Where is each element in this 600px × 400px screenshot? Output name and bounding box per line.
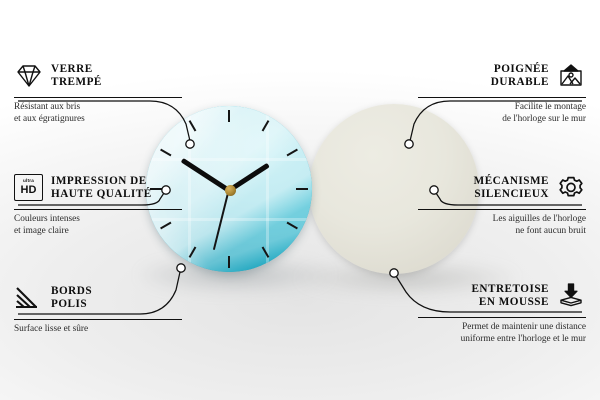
clock-tick bbox=[296, 188, 308, 190]
feature-title-line1: IMPRESSION DE bbox=[51, 175, 147, 187]
feature-description: Résistant aux bris et aux égratignures bbox=[14, 102, 182, 125]
feature-divider bbox=[14, 209, 182, 210]
feature-entretoise-en-mousse: ENTRETOISE EN MOUSSE Permet de maintenir… bbox=[418, 276, 586, 346]
feature-title: POIGNÉE DURABLE bbox=[491, 63, 549, 90]
feature-header: MÉCANISME SILENCIEUX bbox=[418, 168, 586, 208]
infographic-canvas: VERRE TREMPÉ Résistant aux bris et aux é… bbox=[0, 0, 600, 400]
ultra-hd-icon: ultra HD bbox=[14, 174, 44, 202]
feature-title-line2: POLIS bbox=[51, 298, 87, 310]
clock-tick bbox=[228, 256, 230, 268]
feature-desc-line1: Facilite le montage bbox=[515, 102, 586, 112]
feature-description: Permet de maintenir une distance uniform… bbox=[418, 322, 586, 345]
feature-impression-haute-qualite: ultra HD IMPRESSION DE HAUTE QUALITÉ Cou… bbox=[14, 168, 182, 238]
polished-edges-icon bbox=[14, 284, 44, 312]
hanging-frame-icon bbox=[556, 62, 586, 90]
ultra-hd-icon-main-label: HD bbox=[21, 185, 37, 196]
feature-description: Facilite le montage de l'horloge sur le … bbox=[418, 102, 586, 125]
clock-tick bbox=[228, 110, 230, 122]
feature-divider bbox=[418, 317, 586, 318]
feature-bords-polis: BORDS POLIS Surface lisse et sûre bbox=[14, 278, 182, 336]
feature-title: BORDS POLIS bbox=[51, 285, 92, 312]
feature-description: Couleurs intenses et image claire bbox=[14, 214, 182, 237]
feature-title: MÉCANISME SILENCIEUX bbox=[474, 175, 549, 202]
feature-divider bbox=[418, 97, 586, 98]
feature-header: BORDS POLIS bbox=[14, 278, 182, 318]
feature-desc-line2: ne font aucun bruit bbox=[516, 226, 586, 236]
feature-title-line2: TREMPÉ bbox=[51, 76, 102, 88]
feature-title-line1: ENTRETOISE bbox=[471, 283, 549, 295]
foam-spacer-icon bbox=[556, 282, 586, 310]
feature-desc-line2: uniforme entre l'horloge et le mur bbox=[461, 334, 586, 344]
feature-desc-line1: Couleurs intenses bbox=[14, 214, 80, 224]
feature-poignee-durable: POIGNÉE DURABLE Facilite le montage de l… bbox=[418, 56, 586, 126]
diamond-icon bbox=[14, 62, 44, 90]
feature-title-line2: EN MOUSSE bbox=[479, 296, 549, 308]
feature-desc-line2: de l'horloge sur le mur bbox=[502, 114, 586, 124]
clock-center-cap bbox=[225, 185, 236, 196]
feature-header: ENTRETOISE EN MOUSSE bbox=[418, 276, 586, 316]
feature-title: IMPRESSION DE HAUTE QUALITÉ bbox=[51, 175, 152, 202]
feature-desc-line1: Les aiguilles de l'horloge bbox=[493, 214, 586, 224]
feature-title-line2: SILENCIEUX bbox=[474, 188, 549, 200]
feature-title-line2: DURABLE bbox=[491, 76, 549, 88]
feature-title: ENTRETOISE EN MOUSSE bbox=[471, 283, 549, 310]
feature-desc-line2: et image claire bbox=[14, 226, 69, 236]
feature-mecanisme-silencieux: MÉCANISME SILENCIEUX Les aiguilles de l'… bbox=[418, 168, 586, 238]
feature-title-line1: BORDS bbox=[51, 285, 92, 297]
feature-desc-line1: Permet de maintenir une distance bbox=[462, 322, 586, 332]
feature-divider bbox=[14, 319, 182, 320]
feature-divider bbox=[14, 97, 182, 98]
feature-header: POIGNÉE DURABLE bbox=[418, 56, 586, 96]
feature-title-line1: VERRE bbox=[51, 63, 93, 75]
gear-icon bbox=[556, 174, 586, 202]
feature-title-line1: POIGNÉE bbox=[494, 63, 549, 75]
feature-description: Les aiguilles de l'horloge ne font aucun… bbox=[418, 214, 586, 237]
feature-description: Surface lisse et sûre bbox=[14, 324, 182, 336]
feature-desc-line1: Surface lisse et sûre bbox=[14, 324, 88, 334]
feature-desc-line1: Résistant aux bris bbox=[14, 102, 80, 112]
feature-header: VERRE TREMPÉ bbox=[14, 56, 182, 96]
feature-desc-line2: et aux égratignures bbox=[14, 114, 85, 124]
feature-title: VERRE TREMPÉ bbox=[51, 63, 102, 90]
feature-verre-trempe: VERRE TREMPÉ Résistant aux bris et aux é… bbox=[14, 56, 182, 126]
feature-header: ultra HD IMPRESSION DE HAUTE QUALITÉ bbox=[14, 168, 182, 208]
feature-title-line2: HAUTE QUALITÉ bbox=[51, 188, 152, 200]
feature-title-line1: MÉCANISME bbox=[474, 175, 549, 187]
feature-divider bbox=[418, 209, 586, 210]
